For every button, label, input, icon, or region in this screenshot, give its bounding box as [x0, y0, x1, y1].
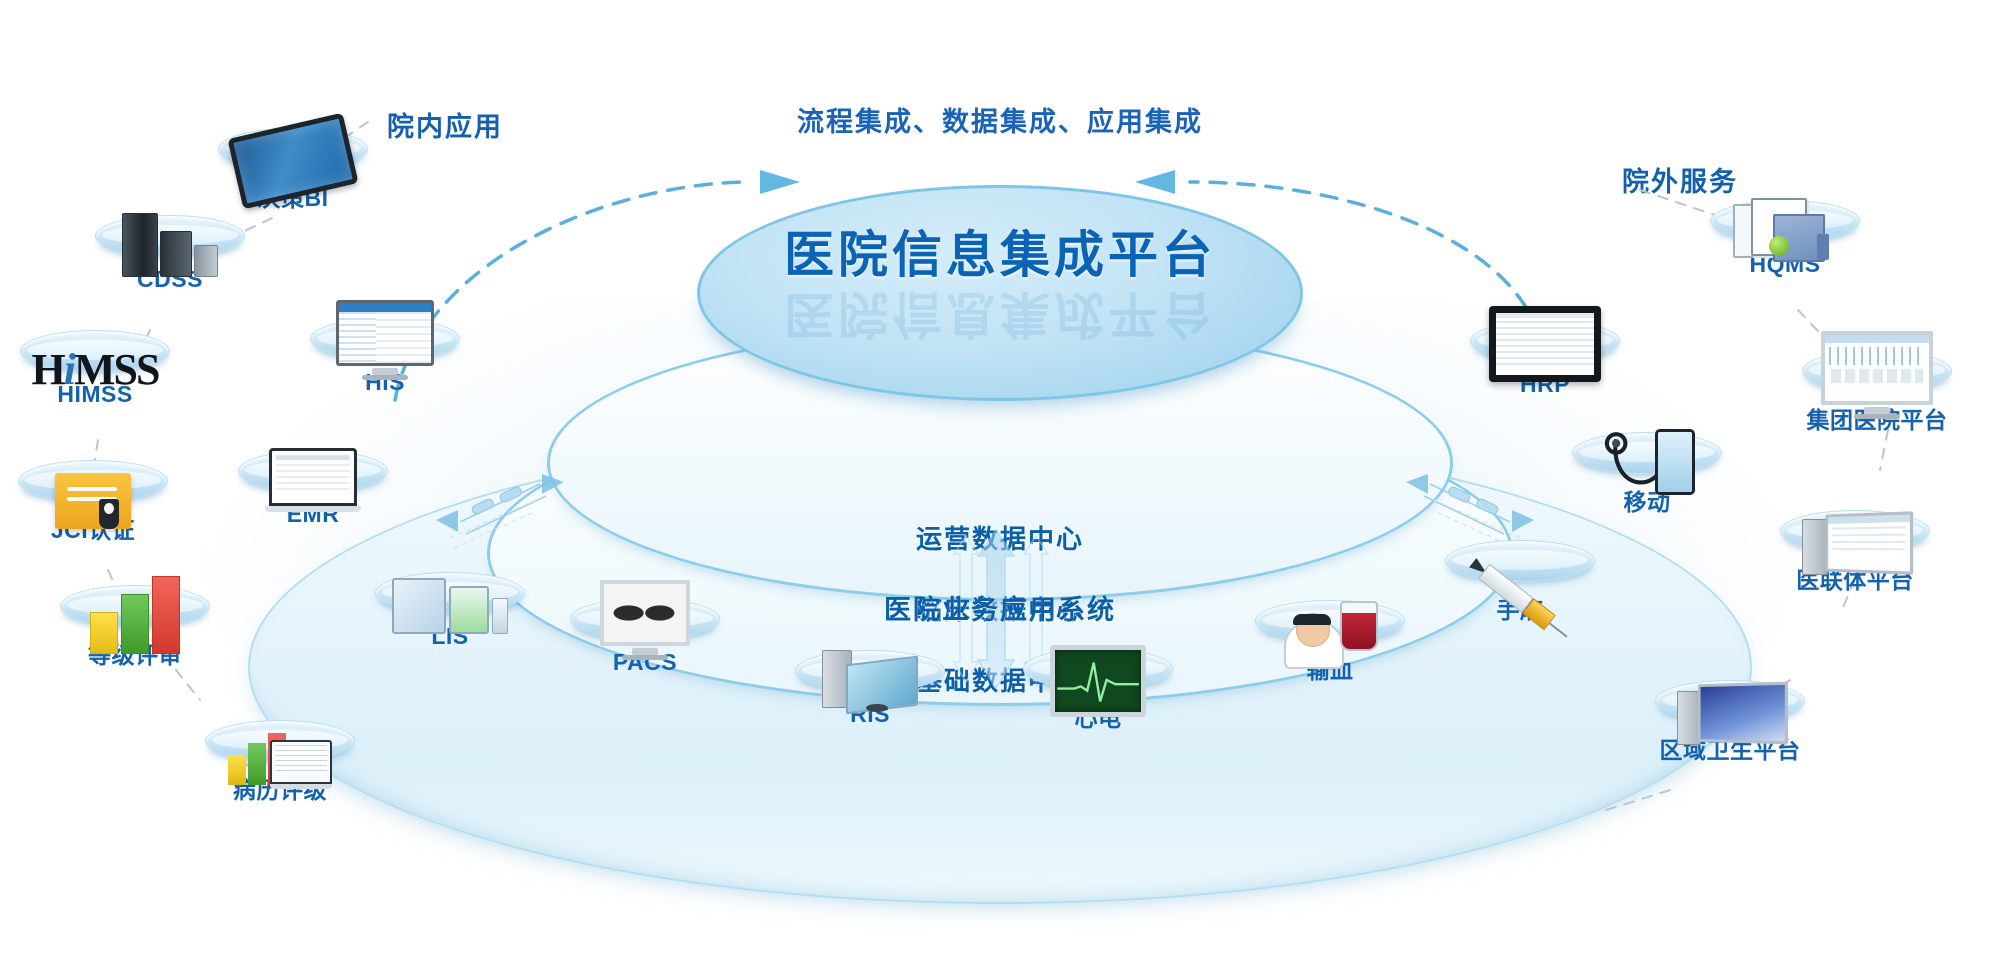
ecg-monitor-icon [1050, 645, 1146, 717]
server-icon [122, 213, 218, 277]
node-pedestal [1445, 540, 1595, 582]
node-hqms[interactable]: HQMS [1710, 200, 1860, 278]
diagram-canvas: 流程集成、数据集成、应用集成 院内应用 院外服务 医院信息集成平台 医院信息集成… [0, 0, 2000, 955]
node-regional-health[interactable]: 区域卫生平台 [1655, 680, 1805, 765]
node-grade-review[interactable]: 等级评审 [60, 585, 210, 670]
node-cdss[interactable]: CDSS [95, 215, 245, 293]
syringe-icon [1460, 590, 1580, 609]
pc-tower-monitor-icon [818, 652, 922, 712]
himss-logo-icon: HiMSS [32, 348, 159, 392]
node-pacs[interactable]: PACS [570, 598, 720, 676]
node-medical-union[interactable]: 医联体平台 [1780, 510, 1930, 595]
lab-analyzer-icon [392, 578, 508, 634]
folder-documents-icon [1731, 196, 1839, 262]
node-his[interactable]: HIS [310, 318, 460, 396]
node-himss[interactable]: HiMSS HIMSS [20, 330, 170, 408]
blue-monitor-icon [1677, 687, 1783, 749]
laptop-icon [269, 448, 357, 512]
node-mobile[interactable]: 移动 [1572, 432, 1722, 517]
chart-laptop-icon [228, 723, 332, 789]
node-emr-rating[interactable]: 病历评级 [205, 720, 355, 805]
node-group-hospital[interactable]: 集团医院平台 [1802, 350, 1952, 435]
node-anesthesia[interactable]: 手麻 [1445, 540, 1595, 625]
desktop-monitor-icon [336, 300, 434, 380]
mobile-stethoscope-icon [1595, 429, 1699, 501]
node-blood[interactable]: 输血 [1255, 600, 1405, 685]
wide-monitor-icon [1821, 331, 1933, 419]
node-ecg[interactable]: 心电 [1023, 648, 1173, 733]
node-ris[interactable]: RIS [795, 650, 945, 728]
node-emr[interactable]: EMR [238, 450, 388, 528]
certificate-seal-icon [55, 473, 131, 529]
node-lis[interactable]: LIS [375, 572, 525, 650]
node-bi[interactable]: 决策BI [218, 128, 368, 213]
tablet-icon [234, 125, 352, 197]
blood-transfusion-icon [1280, 599, 1380, 669]
node-hrp[interactable]: HRP [1470, 320, 1620, 398]
node-jci[interactable]: JCI认证 [18, 460, 168, 545]
pc-monitor-icon [1802, 517, 1908, 579]
bar-chart-icon [90, 576, 180, 654]
hrp-monitor-icon [1489, 306, 1601, 382]
xray-monitor-icon [600, 580, 690, 660]
